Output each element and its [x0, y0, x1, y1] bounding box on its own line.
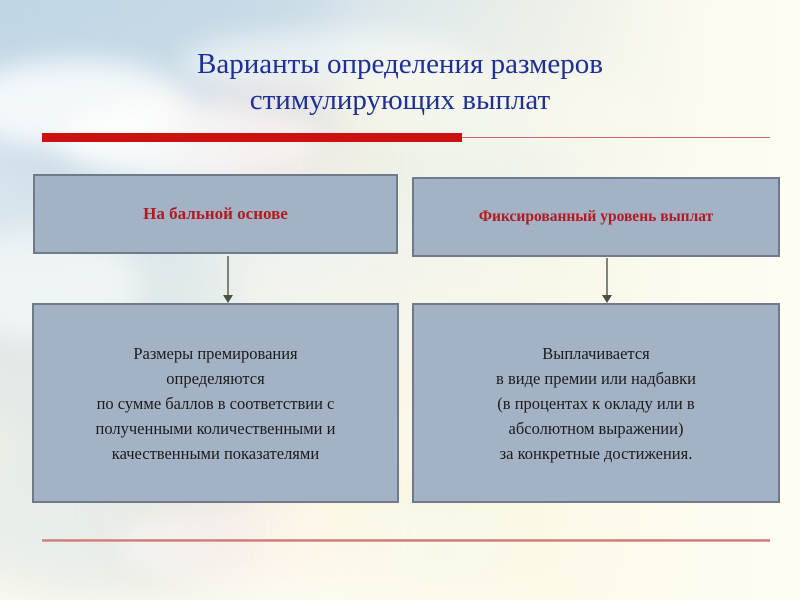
- detail-box-score-based-text: Размеры премирования определяются по сум…: [86, 341, 346, 466]
- heading-box-score-based[interactable]: На бальной основе: [33, 174, 398, 254]
- heading-box-score-based-label: На бальной основе: [143, 204, 288, 224]
- detail-score-line-2: определяются: [96, 366, 336, 391]
- detail-fixed-line-5: за конкретные достижения.: [496, 441, 696, 466]
- detail-score-line-1: Размеры премирования: [96, 341, 336, 366]
- slide-canvas: Варианты определения размеров стимулирую…: [0, 0, 800, 600]
- footer-divider-line: [42, 539, 770, 542]
- down-arrow-icon-fixed: [601, 258, 613, 304]
- slide-title-line-1: Варианты определения размеров: [60, 46, 740, 82]
- detail-fixed-line-3: (в процентах к окладу или в: [496, 391, 696, 416]
- arrow-shaft: [227, 256, 229, 296]
- arrow-head: [602, 295, 612, 303]
- slide-title: Варианты определения размеров стимулирую…: [60, 46, 740, 118]
- detail-box-fixed-level[interactable]: Выплачивается в виде премии или надбавки…: [412, 303, 780, 503]
- title-underline-accent-bar: [42, 133, 462, 142]
- arrow-shaft: [606, 258, 608, 296]
- detail-fixed-line-4: абсолютном выражении): [496, 416, 696, 441]
- heading-box-fixed-level[interactable]: Фиксированный уровень выплат: [412, 177, 780, 257]
- detail-fixed-line-1: Выплачивается: [496, 341, 696, 366]
- heading-box-fixed-level-label: Фиксированный уровень выплат: [479, 208, 714, 226]
- down-arrow-icon-score: [222, 256, 234, 304]
- detail-fixed-line-2: в виде премии или надбавки: [496, 366, 696, 391]
- detail-score-line-4: полученными количественными и: [96, 416, 336, 441]
- detail-score-line-5: качественными показателями: [96, 441, 336, 466]
- detail-box-fixed-level-text: Выплачивается в виде премии или надбавки…: [486, 341, 706, 466]
- background-cloud-6: [120, 500, 500, 590]
- slide-title-line-2: стимулирующих выплат: [60, 82, 740, 118]
- arrow-head: [223, 295, 233, 303]
- detail-box-score-based[interactable]: Размеры премирования определяются по сум…: [32, 303, 399, 503]
- detail-score-line-3: по сумме баллов в соответствии с: [96, 391, 336, 416]
